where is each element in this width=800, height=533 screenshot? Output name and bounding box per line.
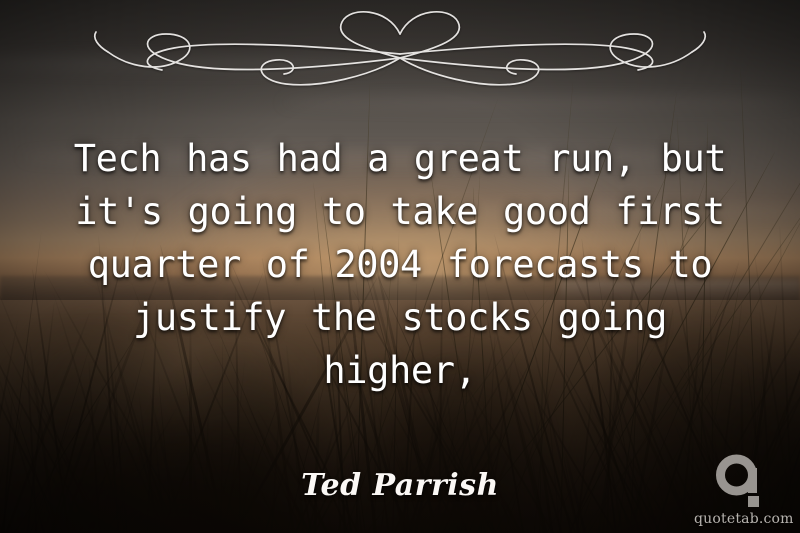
quote-card: Tech has had a great run, but it's going… — [0, 0, 800, 533]
author-name: Ted Parrish — [0, 468, 800, 503]
quotetab-logo-icon[interactable] — [713, 452, 771, 510]
flourish-ornament-icon — [70, 6, 730, 88]
quote-text: Tech has had a great run, but it's going… — [40, 132, 760, 397]
watermark[interactable]: quotetab.com — [694, 452, 790, 527]
watermark-site-label[interactable]: quotetab.com — [694, 511, 790, 527]
